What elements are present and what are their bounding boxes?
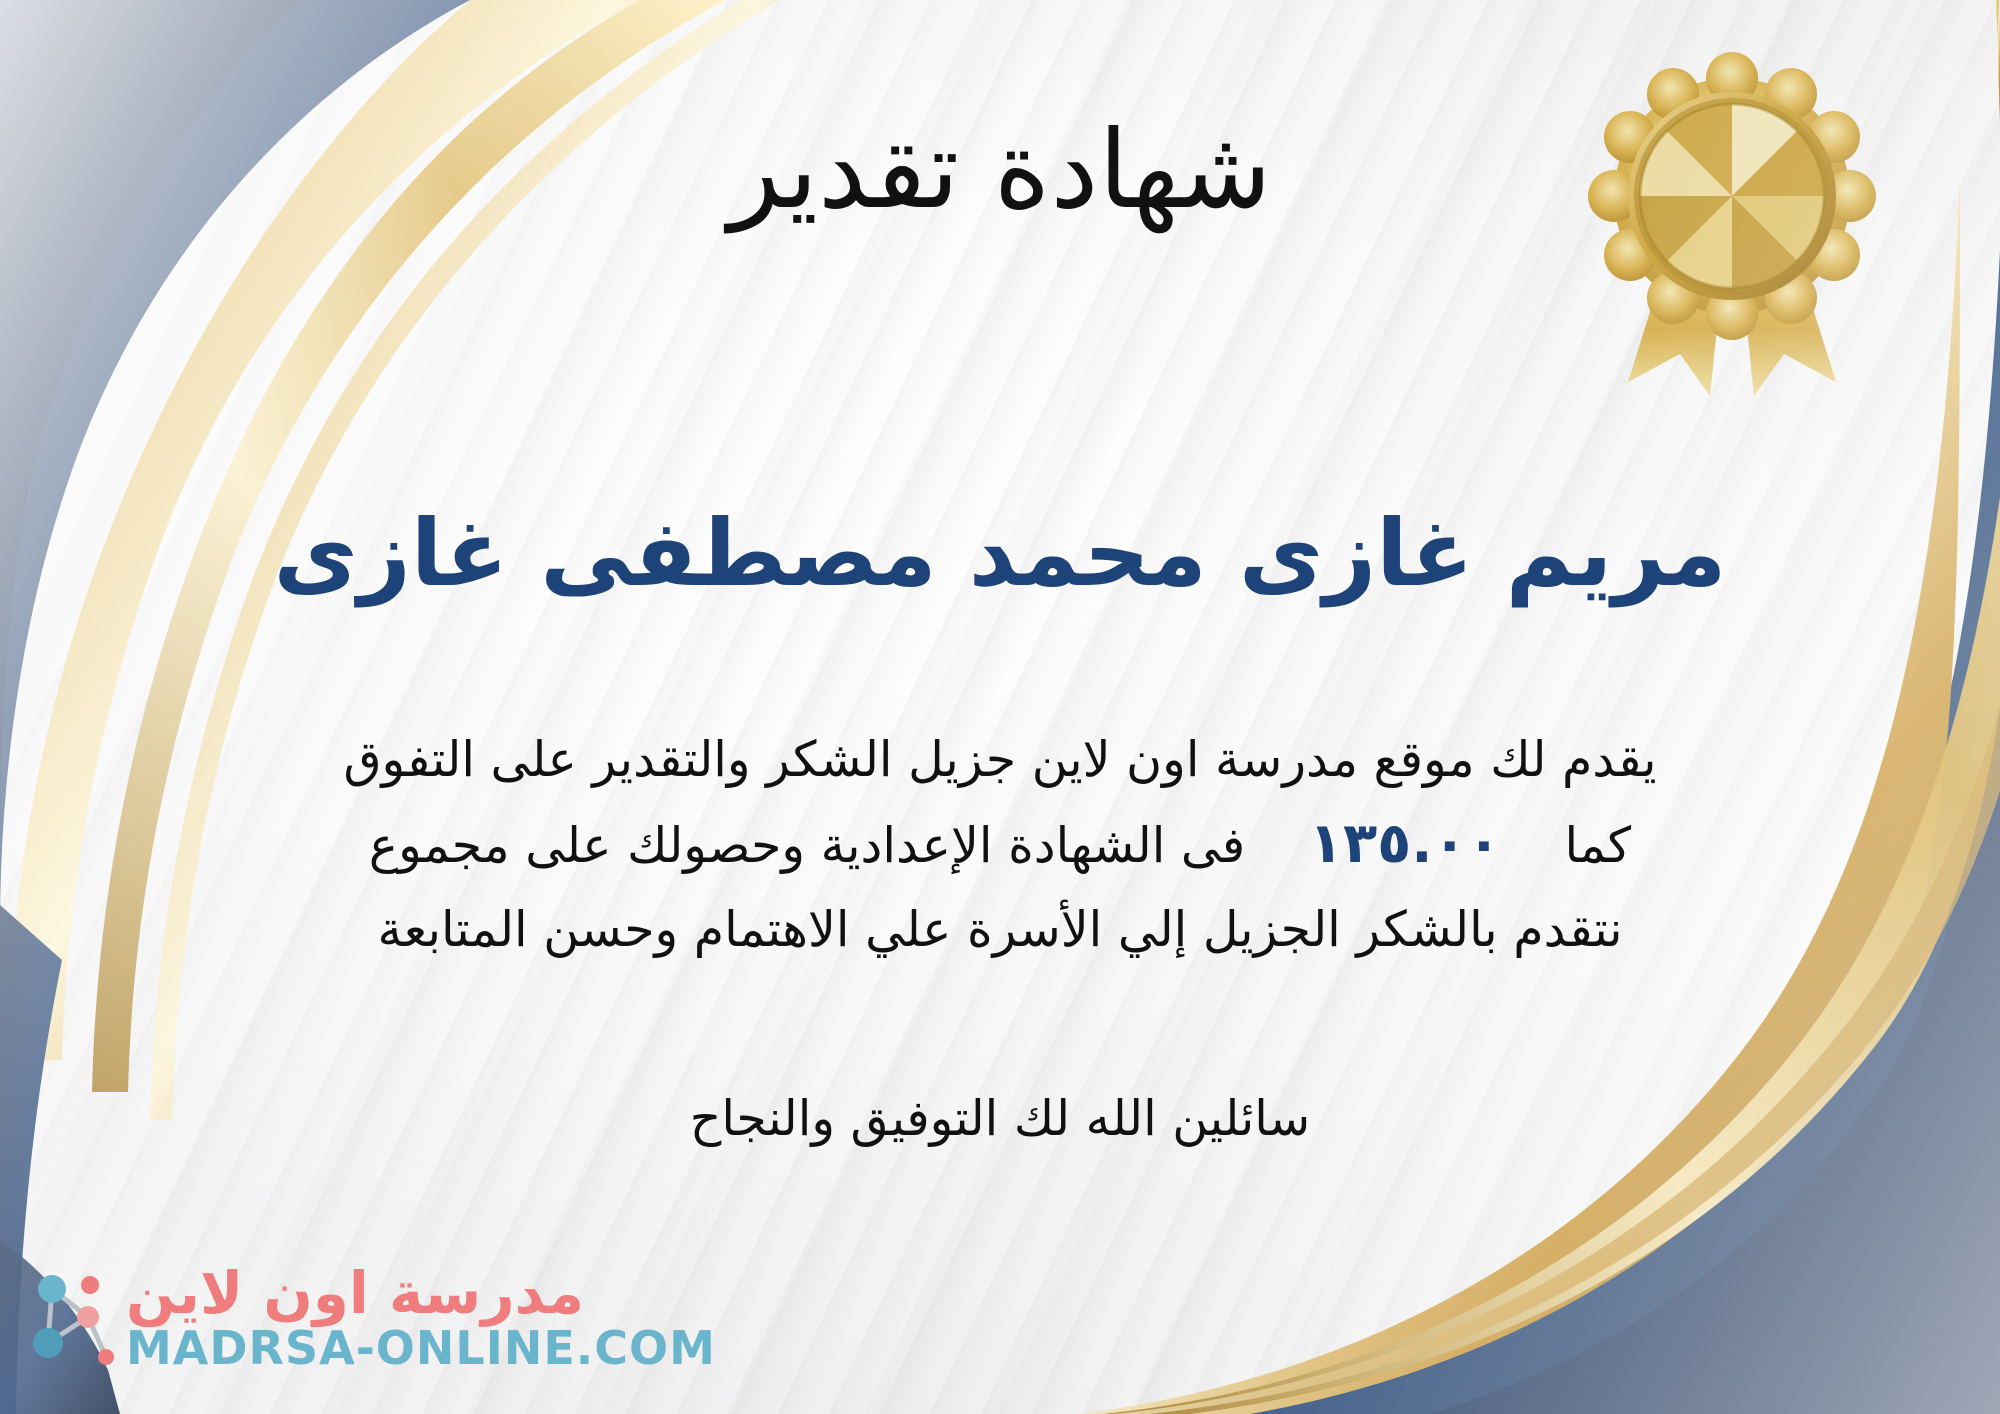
brand-name-arabic: مدرسة اون لاين [126, 1263, 584, 1324]
grade-value: ١٣٥.٠٠ [1261, 799, 1549, 890]
brand-website: MADRSA-ONLINE.COM [126, 1324, 716, 1372]
body-line-2-suffix: كما [1565, 817, 1632, 874]
brand-wordmarks: مدرسة اون لاين MADRSA-ONLINE.COM [126, 1263, 716, 1372]
certificate-body: يقدم لك موقع مدرسة اون لاين جزيل الشكر و… [60, 720, 1940, 969]
body-line-1: يقدم لك موقع مدرسة اون لاين جزيل الشكر و… [60, 720, 1940, 799]
certificate-page: شهادة تقدير مريم غازى محمد مصطفى غازى يق… [0, 0, 2000, 1414]
brand-logo[interactable]: مدرسة اون لاين MADRSA-ONLINE.COM [22, 1263, 716, 1372]
closing-wish: سائلين الله لك التوفيق والنجاح [0, 1090, 2000, 1147]
student-name: مريم غازى محمد مصطفى غازى [0, 500, 2000, 607]
body-line-3: نتقدم بالشكر الجزيل إلي الأسرة علي الاهت… [60, 890, 1940, 969]
body-line-2: كما ١٣٥.٠٠ فى الشهادة الإعدادية وحصولك ع… [60, 799, 1940, 890]
certificate-title: شهادة تقدير [0, 108, 2000, 233]
certificate-content: شهادة تقدير مريم غازى محمد مصطفى غازى يق… [0, 0, 2000, 1414]
body-line-2-prefix: فى الشهادة الإعدادية وحصولك على مجموع [369, 817, 1245, 874]
network-nodes-icon [22, 1265, 118, 1369]
